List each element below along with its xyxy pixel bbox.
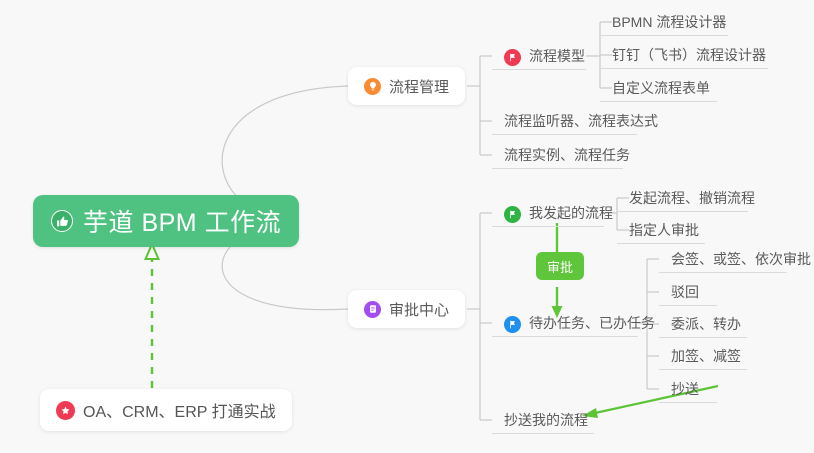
leaf-label: 抄送 <box>671 382 699 399</box>
leaf-label: BPMN 流程设计器 <box>612 15 726 32</box>
leaf-countersign[interactable]: 会签、或签、依次审批 <box>659 242 787 273</box>
integration-card-label: OA、CRM、ERP 打通实战 <box>83 398 276 422</box>
leaf-custom-form[interactable]: 自定义流程表单 <box>600 71 717 102</box>
flag-red-icon <box>504 49 521 66</box>
node-todo-done-tasks[interactable]: 待办任务、已办任务 <box>492 306 638 337</box>
star-icon <box>56 401 75 420</box>
leaf-label: 指定人审批 <box>629 223 699 240</box>
branch-process-management[interactable]: 流程管理 <box>348 67 465 105</box>
node-label: 抄送我的流程 <box>504 413 588 430</box>
branch-label: 流程管理 <box>389 76 449 97</box>
node-my-started-processes[interactable]: 我发起的流程 <box>492 196 604 227</box>
node-label: 我发起的流程 <box>529 206 613 223</box>
leaf-delegate-transfer[interactable]: 委派、转办 <box>659 307 747 338</box>
document-icon <box>364 301 381 318</box>
flag-green-icon <box>504 206 521 223</box>
integration-card[interactable]: OA、CRM、ERP 打通实战 <box>40 389 292 431</box>
leaf-bpmn-designer[interactable]: BPMN 流程设计器 <box>600 5 728 36</box>
leaf-cc[interactable]: 抄送 <box>659 372 717 403</box>
leaf-label: 钉钉（飞书）流程设计器 <box>612 48 766 65</box>
leaf-label: 自定义流程表单 <box>612 81 710 98</box>
node-label: 流程模型 <box>529 49 585 66</box>
mindmap-canvas: 芋道 BPM 工作流 流程管理 流程模型 BPMN 流程设计器 钉钉（飞书）流程… <box>0 0 814 453</box>
approval-tag-label: 审批 <box>547 257 573 276</box>
leaf-label: 加签、减签 <box>671 349 741 366</box>
leaf-add-remove-sign[interactable]: 加签、减签 <box>659 339 747 370</box>
flag-blue-icon <box>504 316 521 333</box>
node-process-model[interactable]: 流程模型 <box>492 39 586 70</box>
leaf-label: 流程监听器、流程表达式 <box>504 114 658 131</box>
thumbs-up-icon <box>51 210 73 232</box>
leaf-dingtalk-designer[interactable]: 钉钉（飞书）流程设计器 <box>600 38 768 69</box>
leaf-label: 会签、或签、依次审批 <box>671 252 811 269</box>
leaf-label: 驳回 <box>671 285 699 302</box>
leaf-label: 发起流程、撤销流程 <box>629 191 755 208</box>
approval-tag: 审批 <box>536 252 584 280</box>
leaf-start-cancel-process[interactable]: 发起流程、撤销流程 <box>617 181 748 212</box>
leaf-assignee-approval[interactable]: 指定人审批 <box>617 213 705 244</box>
leaf-process-instance[interactable]: 流程实例、流程任务 <box>492 138 623 169</box>
leaf-process-listener[interactable]: 流程监听器、流程表达式 <box>492 104 637 135</box>
leaf-reject[interactable]: 驳回 <box>659 275 717 306</box>
lightbulb-icon <box>364 78 381 95</box>
node-cc-to-me[interactable]: 抄送我的流程 <box>492 403 594 434</box>
branch-approval-center[interactable]: 审批中心 <box>348 290 465 328</box>
leaf-label: 委派、转办 <box>671 317 741 334</box>
node-label: 待办任务、已办任务 <box>529 316 655 333</box>
branch-label: 审批中心 <box>389 299 449 320</box>
root-node[interactable]: 芋道 BPM 工作流 <box>33 195 299 247</box>
root-label: 芋道 BPM 工作流 <box>83 203 281 239</box>
leaf-label: 流程实例、流程任务 <box>504 148 630 165</box>
